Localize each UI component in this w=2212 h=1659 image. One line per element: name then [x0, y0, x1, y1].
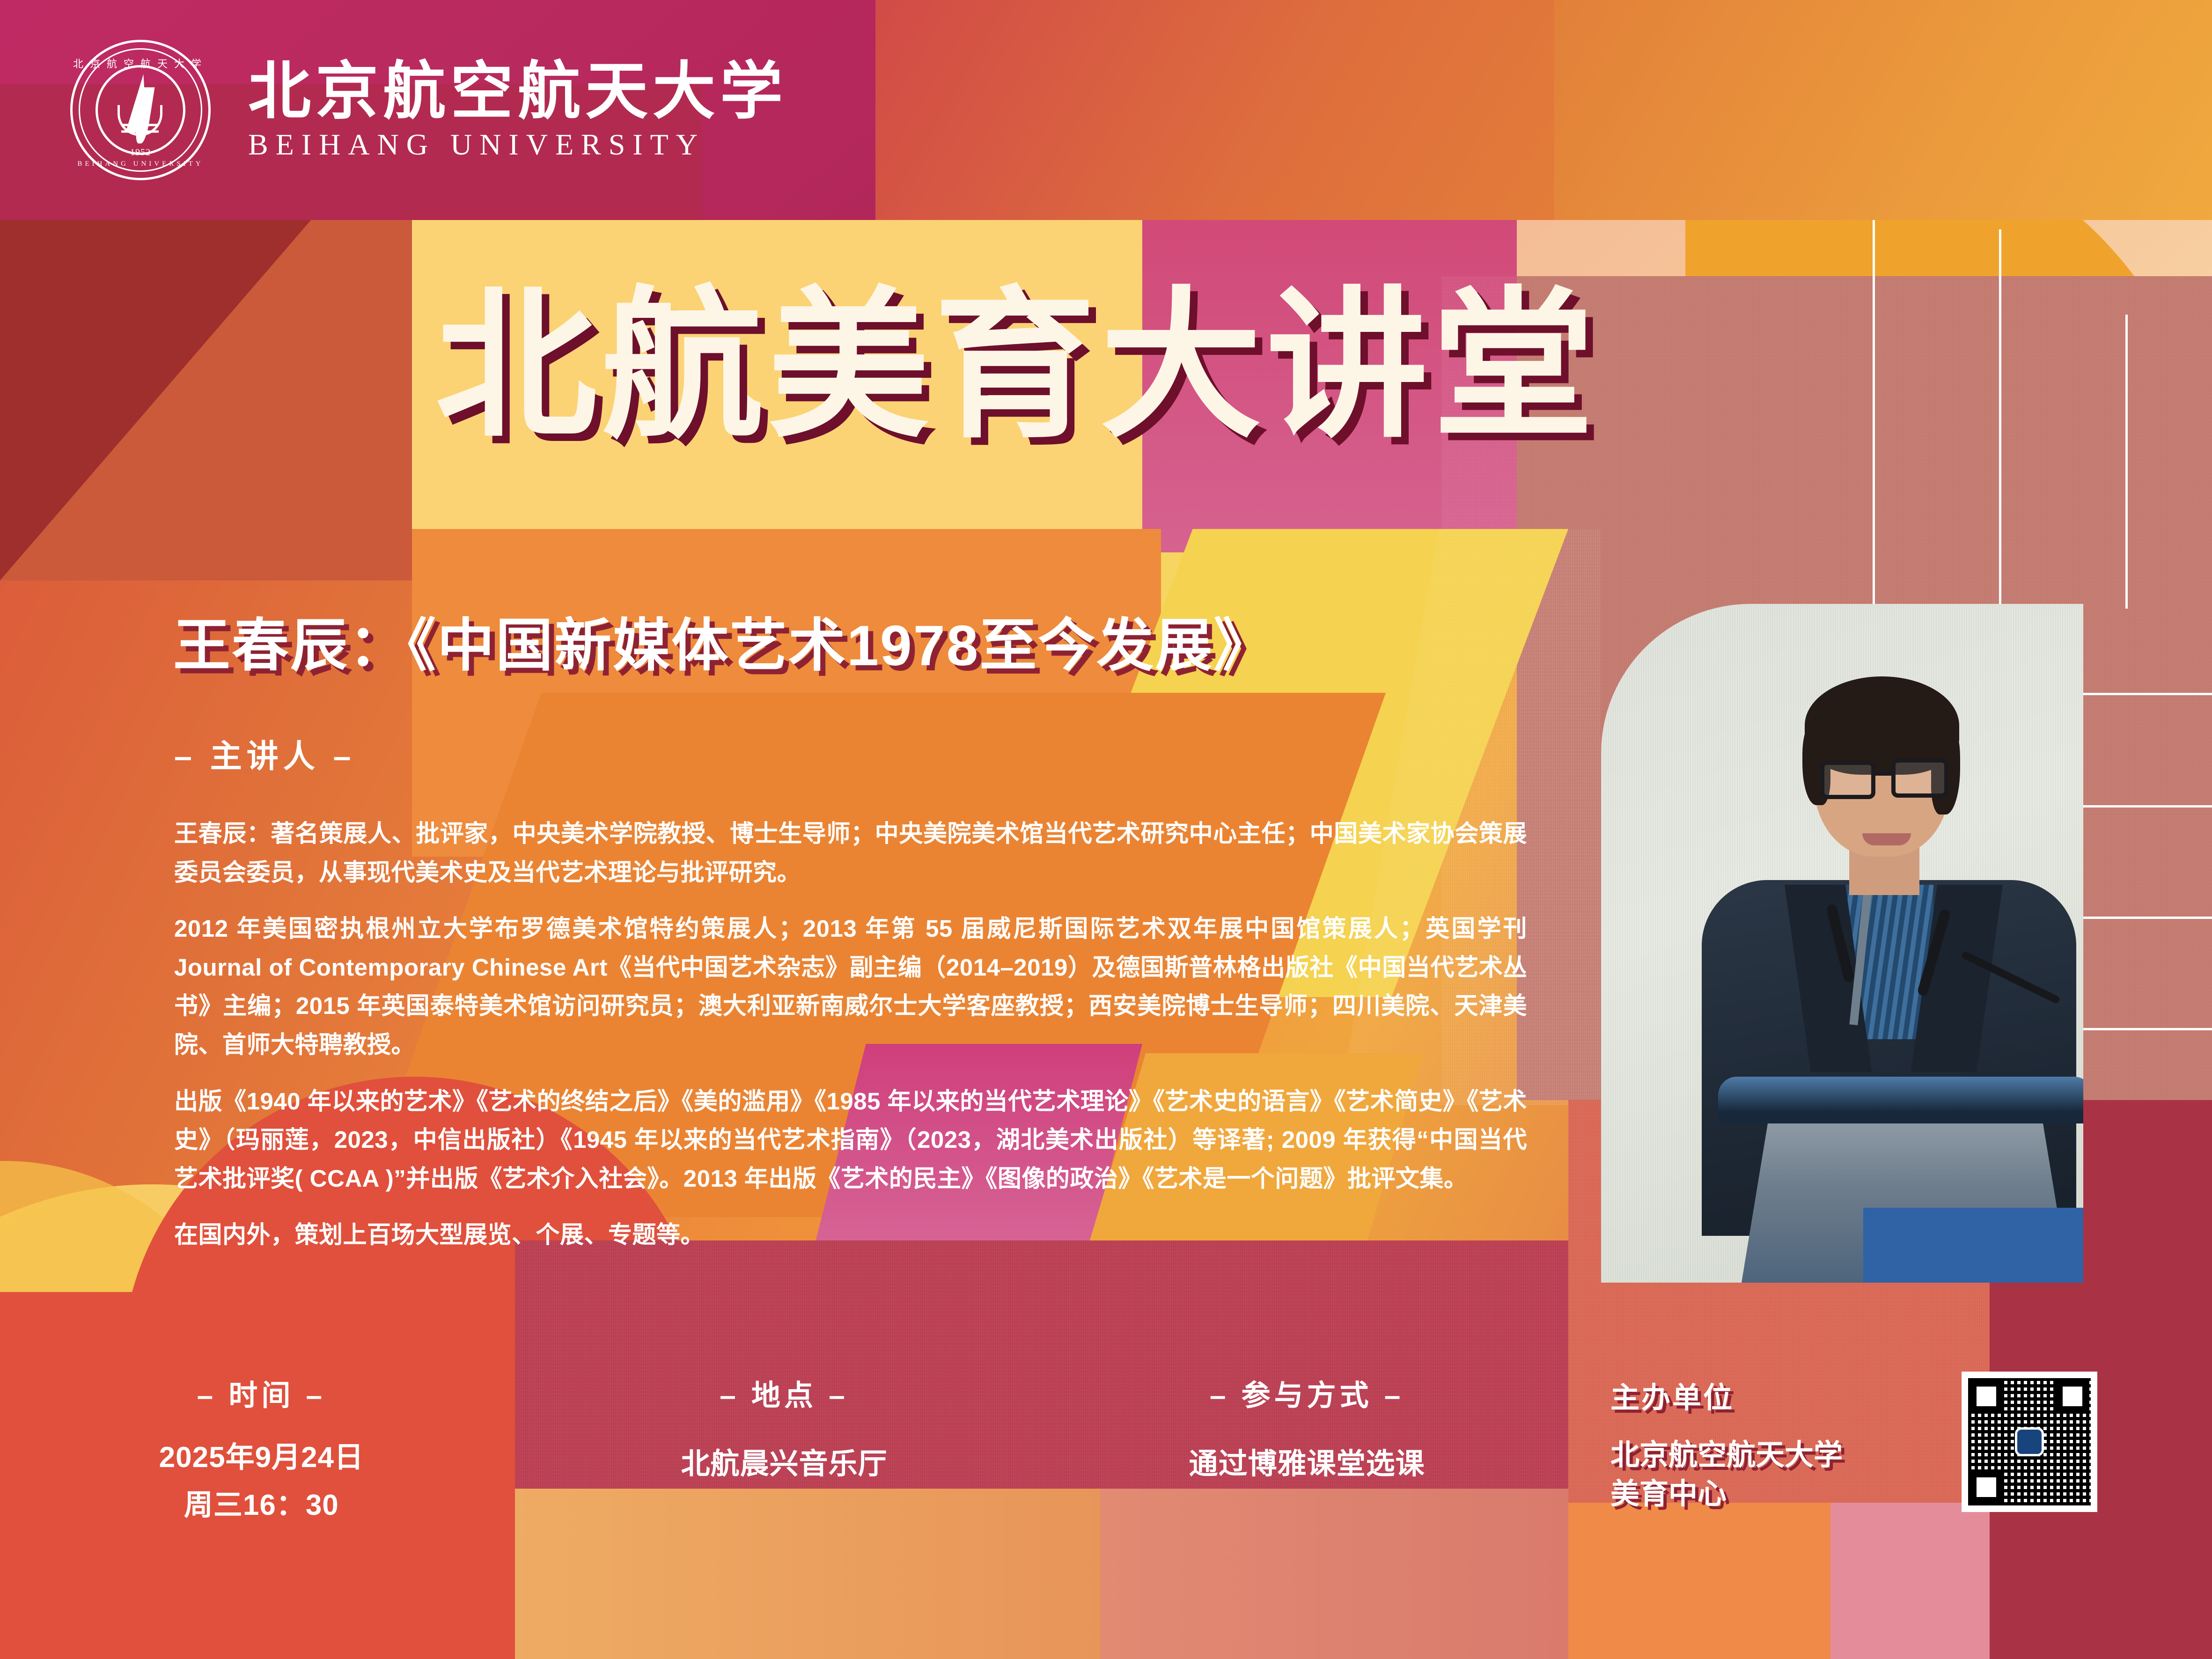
bg-vertical-rule-2 — [1999, 229, 2001, 609]
bio-paragraph-3: 出版《1940 年以来的艺术》《艺术的终结之后》《美的滥用》《1985 年以来的… — [174, 1082, 1527, 1198]
qr-finder-top-left — [1970, 1380, 2003, 1413]
speaker-photo — [1601, 604, 2083, 1283]
place-label: – 地点 – — [523, 1372, 1046, 1414]
seal-emblem-icon: 1952 — [110, 72, 171, 149]
bio-paragraph-2: 2012 年美国密执根州立大学布罗德美术馆特约策展人；2013 年第 55 届威… — [174, 910, 1527, 1064]
time-value-clock: 周三16：30 — [0, 1486, 523, 1525]
university-seal-icon: 北京航空航天大学 BEIHANG UNIVERSITY 1952 — [70, 40, 211, 180]
photo-mouth — [1862, 833, 1911, 845]
seal-english-arc-text: BEIHANG UNIVERSITY — [70, 160, 211, 168]
info-column-place: – 地点 – 北航晨兴音乐厅 — [523, 1372, 1046, 1596]
bio-paragraph-4: 在国内外，策划上百场大型展览、个展、专题等。 — [174, 1216, 1527, 1255]
poster-canvas: 北京航空航天大学 BEIHANG UNIVERSITY 1952 北京航空航天大… — [0, 0, 2212, 1659]
qr-finder-top-right — [2056, 1380, 2089, 1413]
host-name-line1: 北京航空航天大学 — [1610, 1437, 1843, 1474]
photo-glasses-bridge — [1875, 771, 1892, 776]
join-label: – 参与方式 – — [1045, 1372, 1568, 1414]
host-label: 主办单位 — [1610, 1374, 1843, 1416]
speaker-bio: 王春辰：著名策展人、批评家，中央美术学院教授、博士生导师；中央美院美术馆当代艺术… — [174, 815, 1527, 1255]
university-name-cn: 北京航空航天大学 — [248, 58, 787, 124]
bg-block-bottom-right-3 — [1830, 1503, 1990, 1659]
lecture-subtitle: 王春辰：《中国新媒体艺术1978至今发展》 — [173, 599, 1272, 682]
time-label: – 时间 – — [0, 1372, 523, 1414]
info-column-join: – 参与方式 – 通过博雅课堂选课 — [1045, 1372, 1568, 1596]
event-info-row: – 时间 – 2025年9月24日 周三16：30 – 地点 – 北航晨兴音乐厅… — [0, 1372, 1568, 1596]
host-name-line2: 美育中心 — [1610, 1475, 1843, 1512]
bg-vertical-rule-3 — [2125, 315, 2128, 609]
seal-bar-2 — [121, 131, 159, 133]
seal-chinese-arc-text: 北京航空航天大学 — [70, 56, 211, 71]
qr-center-logo-icon — [2015, 1427, 2044, 1456]
photo-podium-panel — [1863, 1208, 2083, 1283]
time-value-date: 2025年9月24日 — [0, 1438, 523, 1477]
bio-paragraph-1: 王春辰：著名策展人、批评家，中央美术学院教授、博士生导师；中央美院美术馆当代艺术… — [174, 815, 1527, 892]
photo-glasses-right-lens — [1891, 758, 1948, 798]
host-block: 主办单位 北京航空航天大学 美育中心 — [1610, 1374, 1843, 1513]
bg-block-bottom-right-2 — [1568, 1503, 1830, 1659]
photo-podium-top — [1718, 1077, 2083, 1123]
speaker-section-label: – 主讲人 – — [174, 730, 355, 777]
place-value: 北航晨兴音乐厅 — [523, 1445, 1046, 1484]
poster-header: 北京航空航天大学 BEIHANG UNIVERSITY 1952 北京航空航天大… — [0, 0, 2212, 220]
university-wordmark: 北京航空航天大学 BEIHANG UNIVERSITY — [248, 58, 787, 162]
qr-finder-bottom-left — [1970, 1471, 2003, 1504]
seal-year-label: 1952 — [110, 147, 171, 158]
info-column-time: – 时间 – 2025年9月24日 周三16：30 — [0, 1372, 523, 1596]
university-name-en: BEIHANG UNIVERSITY — [248, 127, 787, 162]
seal-bar-1 — [121, 124, 159, 126]
join-value: 通过博雅课堂选课 — [1045, 1445, 1568, 1484]
page-title: 北航美育大讲堂 — [435, 286, 1599, 447]
photo-glasses-left-lens — [1820, 761, 1875, 799]
qr-code[interactable] — [1962, 1372, 2097, 1512]
qr-code-pattern — [1968, 1378, 2091, 1505]
